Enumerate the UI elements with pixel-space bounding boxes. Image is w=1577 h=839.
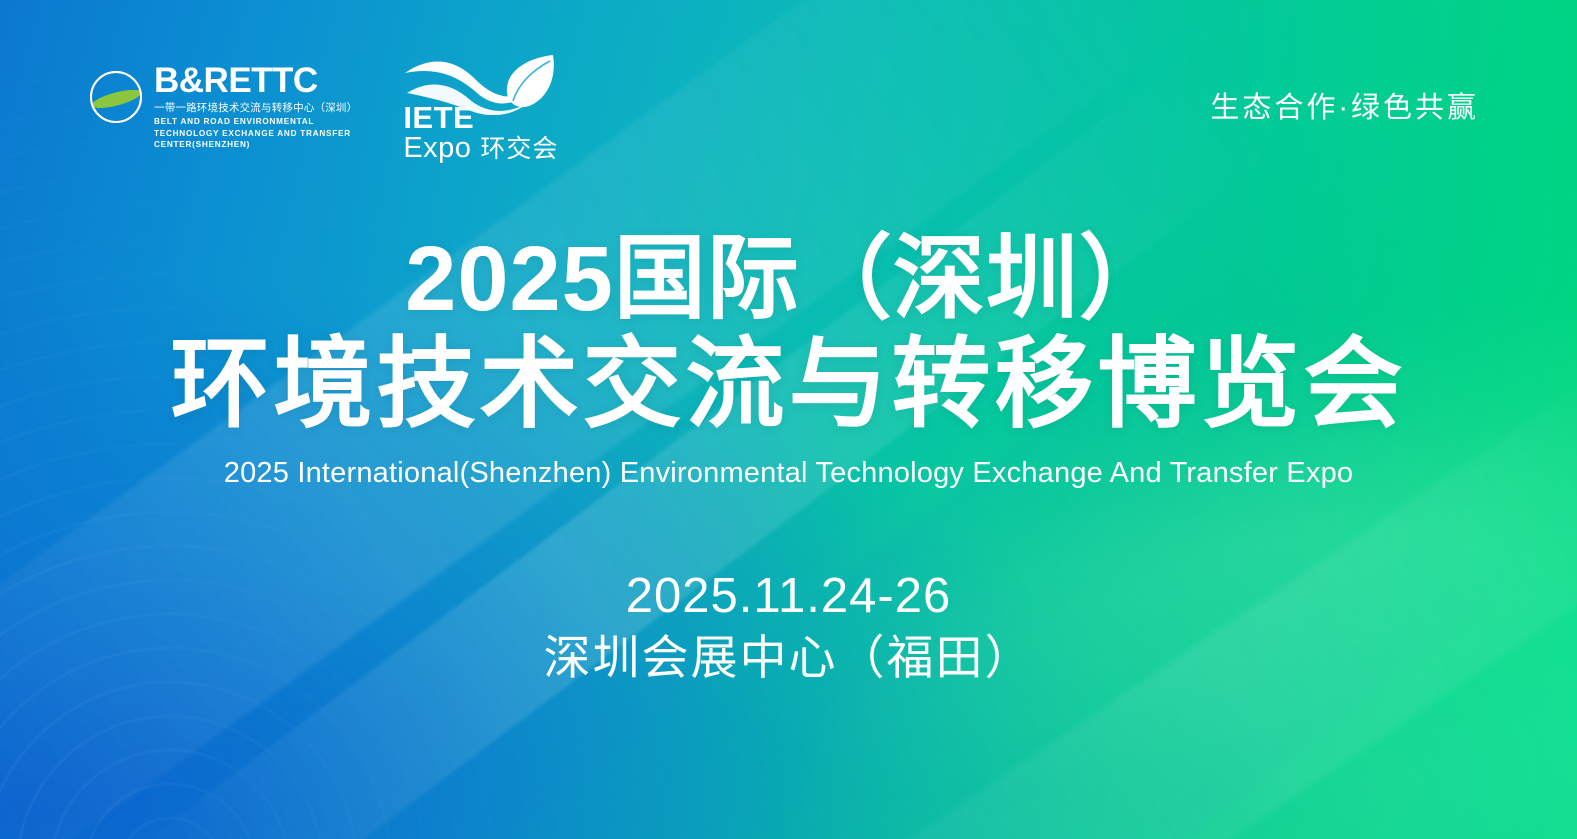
event-banner: B&RETTC 一带一路环境技术交流与转移中心（深圳） BELT AND ROA…	[0, 0, 1577, 839]
event-title-line-1: 2025国际（深圳）	[405, 232, 1172, 328]
logo-iete-abbr: IETE	[403, 100, 474, 135]
logo-brettc-title: B&RETTC	[154, 63, 357, 99]
logo-iete-text: IETE Expo 环交会	[403, 103, 558, 163]
logo-brettc-en-line-3: CENTER(SHENZHEN)	[154, 140, 250, 149]
logo-brettc-text: B&RETTC 一带一路环境技术交流与转移中心（深圳） BELT AND ROA…	[154, 63, 357, 151]
banner-header: B&RETTC 一带一路环境技术交流与转移中心（深圳） BELT AND ROA…	[0, 0, 1577, 210]
logo-group: B&RETTC 一带一路环境技术交流与转移中心（深圳） BELT AND ROA…	[88, 53, 559, 161]
event-title-line-2: 环境技术交流与转移博览会	[171, 334, 1407, 435]
event-subtitle-english: 2025 International(Shenzhen) Environment…	[224, 457, 1353, 490]
logo-brettc[interactable]: B&RETTC 一带一路环境技术交流与转移中心（深圳） BELT AND ROA…	[88, 63, 357, 151]
logo-brettc-en-line-1: BELT AND ROAD ENVIRONMENTAL	[154, 117, 314, 126]
banner-content: 2025国际（深圳） 环境技术交流与转移博览会 2025 Internation…	[0, 232, 1577, 687]
logo-iete-subrow: Expo 环交会	[403, 134, 558, 163]
event-venue: 深圳会展中心（福田）	[544, 630, 1034, 686]
logo-brettc-subtitle-en: BELT AND ROAD ENVIRONMENTAL TECHNOLOGY E…	[154, 116, 357, 151]
logo-iete-expo-word: Expo	[403, 134, 471, 163]
globe-circle-band-icon	[88, 69, 144, 125]
logo-brettc-en-line-2: TECHNOLOGY EXCHANGE AND TRANSFER	[154, 129, 351, 138]
logo-brettc-subtitle-cn: 一带一路环境技术交流与转移中心（深圳）	[154, 101, 357, 115]
logo-iete-expo[interactable]: IETE Expo 环交会	[399, 53, 559, 161]
event-date: 2025.11.24-26	[626, 568, 951, 625]
header-slogan: 生态合作·绿色共赢	[1210, 84, 1479, 126]
logo-iete-name-cn: 环交会	[480, 137, 558, 162]
event-meta: 2025.11.24-26 深圳会展中心（福田）	[544, 568, 1034, 687]
